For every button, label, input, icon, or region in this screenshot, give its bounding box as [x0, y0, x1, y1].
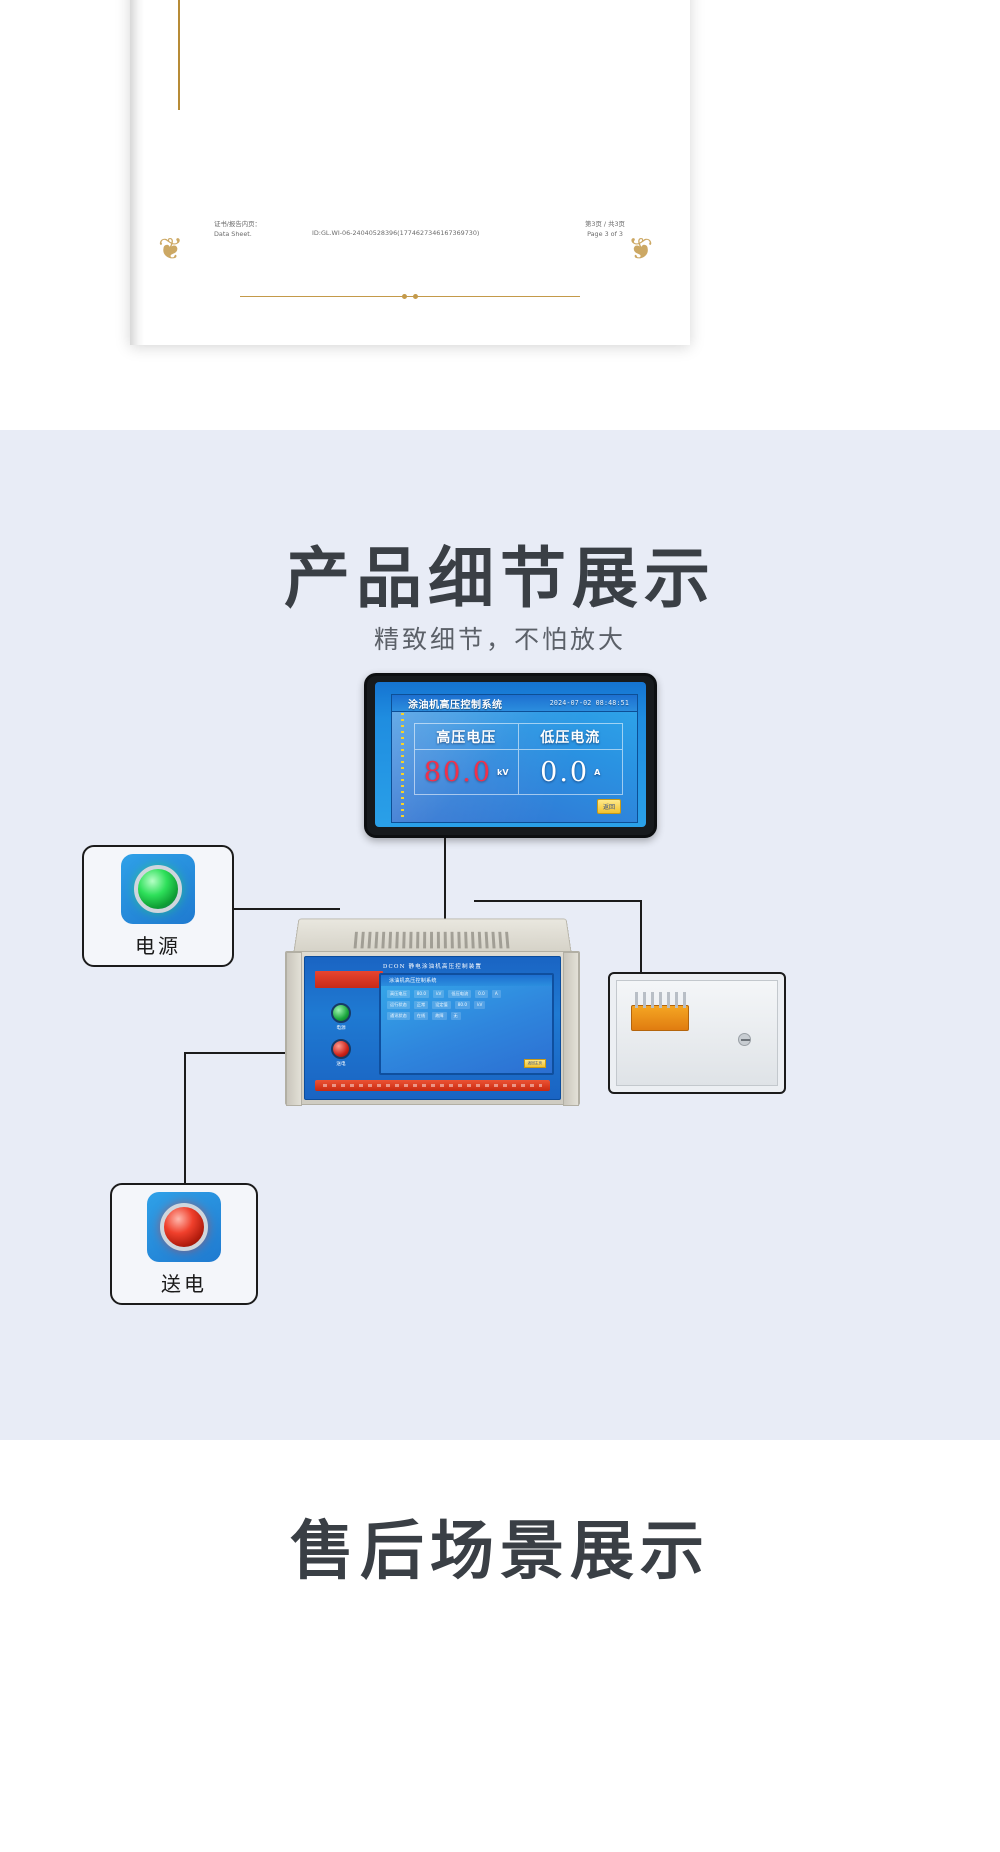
hmi-metric-unit-lc: A: [594, 768, 600, 777]
device-screen-title: 涂油机高压控制系统: [381, 975, 552, 986]
hmi-metric-value-lc-cell: 0.0 A: [519, 750, 623, 794]
device-screen-home-button[interactable]: 返回主页: [524, 1059, 546, 1068]
screw-icon: [738, 1033, 751, 1046]
hmi-metric-label-hv: 高压电压: [415, 724, 519, 750]
page-edge-shadow: [130, 0, 144, 345]
footer-page-cn: 第3页 / 共3页: [550, 220, 660, 230]
cell: 80.0: [414, 990, 429, 998]
device-front-panel: DCON 静电涂油机高压控制装置 涂油机高压控制系统 高压电压 80.0 kV …: [304, 956, 561, 1100]
rack-ear-left: [286, 952, 302, 1106]
hmi-metric-value-hv-cell: 80.0 kV: [415, 750, 519, 794]
cell: 80.0: [455, 1001, 470, 1009]
device-power-label: 电源: [327, 1025, 355, 1031]
hmi-screen[interactable]: 涂油机高压控制系统 2024-07-02 08:48:51 高压电压 低压电流 …: [391, 694, 638, 823]
cell: 高压电压: [387, 990, 410, 998]
cell: 故障: [432, 1012, 446, 1020]
device-screen-rows: 高压电压 80.0 kV 低压电流 0.0 A 运行状态 正常 设定值 80.0: [387, 990, 546, 1023]
device-bottom-accent-bar: [315, 1080, 550, 1091]
red-lamp-icon: [160, 1203, 208, 1251]
hmi-side-indicator-dots: [401, 707, 404, 818]
after-sales-title: 售后场景展示: [0, 1500, 1000, 1592]
ornament-flourish-icon: ❦: [158, 235, 183, 265]
cell: A: [492, 990, 501, 998]
certificate-page: (JJF 1059.1-2012 Evaluation and Expressi…: [130, 0, 690, 345]
device-top-cover: [293, 918, 572, 955]
hmi-timestamp: 2024-07-02 08:48:51: [550, 699, 629, 707]
terminal-box-lid: [616, 980, 778, 1086]
cell: 设定值: [432, 1001, 451, 1009]
device-send-power-label: 送电: [327, 1061, 355, 1067]
device-send-power-lamp[interactable]: [331, 1039, 351, 1059]
send-lamp-housing: [147, 1192, 221, 1262]
device-screen-row: 运行状态 正常 设定值 80.0 kV: [387, 1001, 546, 1009]
device-nameplate: DCON 静电涂油机高压控制装置: [383, 962, 482, 970]
wire-terminal-callout-h: [474, 900, 642, 902]
ventilation-slots-icon: [353, 932, 512, 949]
hmi-metric-grid: 高压电压 低压电流 80.0 kV 0.0 A: [414, 723, 623, 795]
wire-terminal-callout-v: [640, 900, 642, 974]
hmi-metric-label-lc: 低压电流: [519, 724, 623, 750]
power-lamp-housing: [121, 854, 195, 924]
footer-divider: [240, 296, 580, 297]
hmi-metric-value-lc: 0.0: [540, 757, 589, 788]
product-detail-section: 产品细节展示 精致细节，不怕放大 涂油机高压控制系统 2024-07-02 08…: [0, 430, 1000, 1440]
device-red-accent-bar: [315, 971, 383, 988]
cell: kV: [474, 1001, 485, 1009]
device-power-indicator-lamp[interactable]: [331, 1003, 351, 1023]
cell: 低压电流: [448, 990, 471, 998]
after-sales-section: 售后场景展示: [0, 1440, 1000, 1852]
callout-send-power-indicator: 送电: [110, 1183, 258, 1305]
orange-terminal-strip-icon: [631, 1005, 689, 1031]
certificate-footer: 证书/报告内页： Data Sheet. ID:GL.WI-06-2404052…: [130, 220, 690, 264]
callout-power-caption: 电源: [135, 930, 181, 959]
hmi-bezel: 涂油机高压控制系统 2024-07-02 08:48:51 高压电压 低压电流 …: [375, 682, 646, 827]
rack-ear-right: [563, 952, 579, 1106]
footer-sheet-label-en: Data Sheet.: [214, 230, 261, 240]
cell: kV: [433, 990, 444, 998]
footer-sheet-label-cn: 证书/报告内页：: [214, 220, 261, 230]
cell: 无: [451, 1012, 461, 1020]
detail-section-title: 产品细节展示: [0, 525, 1000, 621]
cell: 0.0: [475, 990, 488, 998]
device-screen-row: 高压电压 80.0 kV 低压电流 0.0 A: [387, 990, 546, 998]
ornament-flourish-icon: ❦: [628, 235, 653, 265]
hmi-touch-panel[interactable]: 涂油机高压控制系统 2024-07-02 08:48:51 高压电压 低压电流 …: [364, 673, 657, 838]
footer-sheet-label: 证书/报告内页： Data Sheet.: [214, 220, 261, 239]
callout-power-indicator: 电源: [82, 845, 234, 967]
callout-send-caption: 送电: [161, 1268, 207, 1297]
cell: 正常: [414, 1001, 428, 1009]
device-screen-row: 通讯状态 在线 故障 无: [387, 1012, 546, 1020]
cell: 运行状态: [387, 1001, 410, 1009]
device-embedded-screen[interactable]: 涂油机高压控制系统 高压电压 80.0 kV 低压电流 0.0 A 运行状态: [379, 973, 554, 1075]
hmi-return-button[interactable]: 返回: [597, 799, 621, 814]
high-voltage-control-device: DCON 静电涂油机高压控制装置 涂油机高压控制系统 高压电压 80.0 kV …: [285, 915, 580, 1105]
hmi-title-bar: 涂油机高压控制系统 2024-07-02 08:48:51: [392, 695, 637, 712]
hmi-metric-unit-hv: kV: [497, 768, 509, 777]
certificate-section: (JJF 1059.1-2012 Evaluation and Expressi…: [0, 0, 1000, 430]
detail-section-subtitle: 精致细节，不怕放大: [0, 620, 1000, 656]
hmi-metric-value-hv: 80.0: [424, 757, 492, 788]
device-body: DCON 静电涂油机高压控制装置 涂油机高压控制系统 高压电压 80.0 kV …: [285, 951, 580, 1105]
green-lamp-icon: [134, 865, 182, 913]
hmi-title-text: 涂油机高压控制系统: [408, 696, 503, 711]
gold-vertical-rule: [178, 0, 180, 110]
cell: 通讯状态: [387, 1012, 410, 1020]
wire-send-callout-v: [184, 1052, 186, 1184]
footer-report-id: ID:GL.WI-06-24040528396(1774627346167369…: [312, 229, 479, 239]
terminal-junction-box: [608, 972, 786, 1094]
cell: 在线: [414, 1012, 428, 1020]
